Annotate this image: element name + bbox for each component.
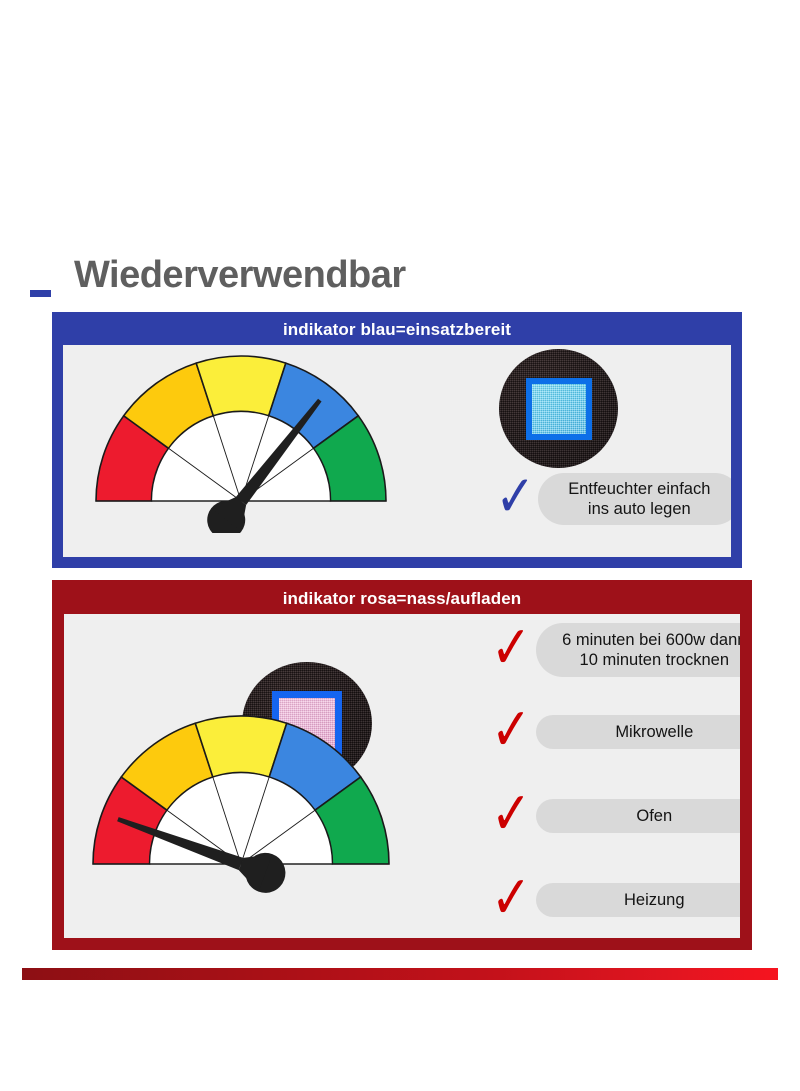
checkmark-icon: ✓ [491,868,531,928]
pill-heater: Heizung [536,883,740,917]
pill-ready-instruction: Entfeuchter einfach ins auto legen [538,473,731,525]
page-title: Wiederverwendbar [74,252,406,298]
check-row-heater: ✓ Heizung [486,870,740,930]
panel-indicator-recharge: indikator rosa=nass/aufladen [52,580,752,950]
checkmark-icon: ✓ [495,467,535,525]
panel-body-recharge: ✓ 6 minuten bei 600w dann 10 minuten tro… [64,614,740,938]
panel-heading-recharge: indikator rosa=nass/aufladen [52,589,752,609]
gauge-recharge [76,694,406,909]
checkmark-icon: ✓ [491,784,531,844]
gauge-ready-svg [81,345,401,533]
panel-indicator-ready: indikator blau=einsatzbereit [52,312,742,568]
pill-oven: Ofen [536,799,740,833]
indicator-square-blue [526,378,592,440]
checkmark-icon: ✓ [491,618,531,678]
checkmark-icon: ✓ [491,700,531,760]
pill-microwave-time: 6 minuten bei 600w dann 10 minuten trock… [536,623,740,677]
title-accent-dash [30,290,51,297]
panel-heading-ready: indikator blau=einsatzbereit [52,320,742,340]
panel-body-ready: ✓ Entfeuchter einfach ins auto legen [63,345,731,557]
title-row: Wiederverwendbar [0,252,800,304]
check-list-recharge: ✓ 6 minuten bei 600w dann 10 minuten tro… [486,620,740,930]
check-row-microwave-time: ✓ 6 minuten bei 600w dann 10 minuten tro… [486,620,740,680]
check-row-ready: ✓ Entfeuchter einfach ins auto legen [491,470,731,528]
check-row-microwave: ✓ Mikrowelle [486,702,740,762]
gauge-recharge-svg [76,694,406,904]
bottom-accent-bar [22,968,778,980]
check-row-oven: ✓ Ofen [486,786,740,846]
pill-microwave: Mikrowelle [536,715,740,749]
gauge-ready [81,345,401,538]
indicator-chip-blue [499,349,618,468]
